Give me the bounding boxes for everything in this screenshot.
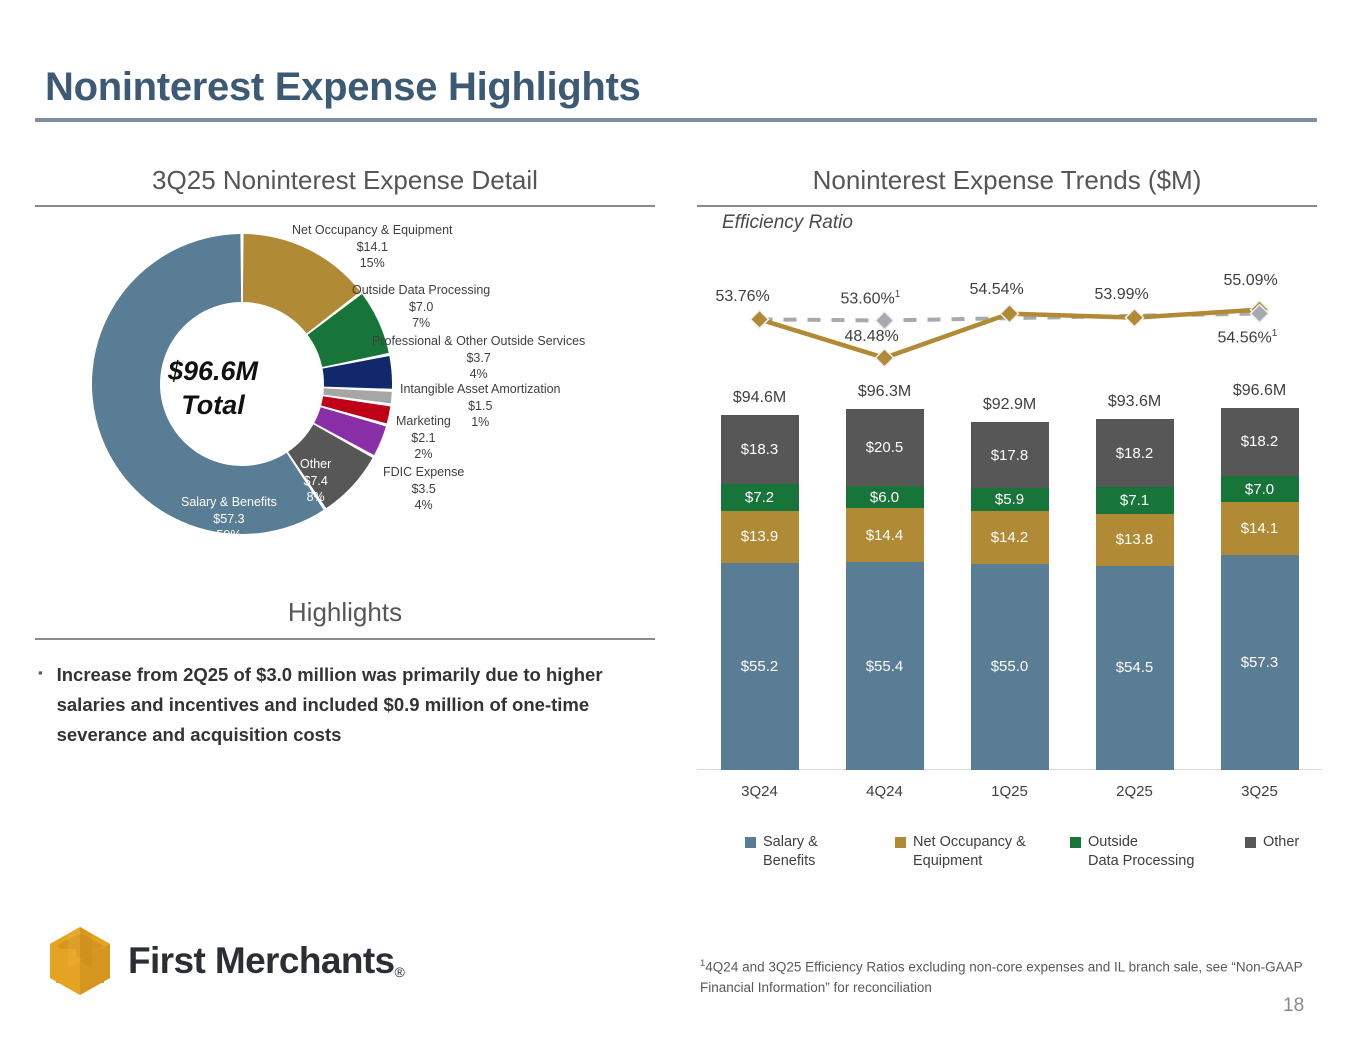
bar-segment-value: $18.2 [1116,445,1154,462]
efficiency-value-2q25: 53.99% [1095,286,1149,304]
legend-swatch-icon [895,837,906,848]
bar-segment-value: $6.0 [870,489,899,506]
highlights-list: ▪ Increase from 2Q25 of $3.0 million was… [38,660,648,750]
legend-swatch-icon [1070,837,1081,848]
bar-segment-salary-benefits: $55.2 [721,563,799,770]
legend-swatch-icon [745,837,756,848]
bar-segment-salary-benefits: $54.5 [1096,566,1174,770]
bar-segment-outside-data-processing: $7.2 [721,484,799,511]
efficiency-marker-3q24 [751,310,769,328]
bar-segment-value: $5.9 [995,491,1024,508]
bar-segment-other: $18.2 [1096,419,1174,487]
bar-segment-other: $18.3 [721,415,799,484]
efficiency-value-4q24: 48.48% [845,328,899,346]
efficiency-adjusted-value-4q24: 53.60%1 [841,289,901,308]
slide-root: Noninterest Expense Highlights 3Q25 Noni… [0,0,1365,1055]
bar-segment-outside-data-processing: $5.9 [971,488,1049,510]
bar-segment-net-occupancy: $14.1 [1221,502,1299,555]
bar-segment-value: $57.3 [1241,654,1279,671]
efficiency-adjusted-value-3q24: 53.76% [716,288,770,306]
bar-segment-value: $54.5 [1116,659,1154,676]
bar-segment-value: $55.4 [866,658,904,675]
stacked-bar-2q25: $18.2$7.1$13.8$54.5 [1096,419,1174,770]
highlights-divider [35,638,655,640]
donut-label-net-occupancy: Net Occupancy & Equipment $14.1 15% [292,222,453,272]
bar-segment-value: $18.3 [741,441,779,458]
donut-label-professional-services: Professional & Other Outside Services $3… [372,333,585,383]
stacked-bar-4q24: $20.5$6.0$14.4$55.4 [846,409,924,770]
x-axis-tick-4q24: 4Q24 [820,783,950,800]
logo-wordmark: First Merchants® [128,940,405,982]
bar-segment-value: $13.8 [1116,531,1154,548]
donut-center-amount: $96.6M [118,355,308,389]
noninterest-expense-trend-chart: 53.76%48.48%54.54%53.99%55.09%53.76%53.6… [697,250,1322,830]
efficiency-adjusted-value-3q25: 54.56%1 [1218,328,1278,347]
legend-label: Other [1263,833,1299,852]
legend-item-net-occupancy-equipment[interactable]: Net Occupancy &Equipment [895,833,1070,871]
bar-segment-value: $7.1 [1120,492,1149,509]
bar-segment-outside-data-processing: $7.1 [1096,487,1174,514]
page-number: 18 [1283,995,1304,1017]
bar-segment-other: $20.5 [846,409,924,486]
donut-label-other: Other $7.4 8% [300,456,331,506]
bar-segment-other: $17.8 [971,422,1049,489]
bar-segment-outside-data-processing: $6.0 [846,486,924,509]
highlights-heading: Highlights [35,597,655,628]
logo-name: First Merchants [128,940,395,981]
registered-mark: ® [395,964,405,980]
donut-label-marketing: Marketing $2.1 2% [396,413,451,463]
bar-total-label-3q25: $96.6M [1195,382,1325,400]
list-item: ▪ Increase from 2Q25 of $3.0 million was… [38,660,648,750]
bar-segment-salary-benefits: $55.4 [846,562,924,770]
efficiency-value-1q25: 54.54% [970,281,1024,299]
bar-segment-value: $14.2 [991,529,1029,546]
bar-total-label-2q25: $93.6M [1070,393,1200,411]
stacked-bar-3q24: $18.3$7.2$13.9$55.2 [721,415,799,770]
legend-item-other[interactable]: Other [1245,833,1325,871]
legend-label: Net Occupancy &Equipment [913,833,1026,871]
bar-segment-value: $20.5 [866,439,904,456]
legend-item-salary-benefits[interactable]: Salary &Benefits [745,833,895,871]
bar-segment-value: $13.9 [741,528,779,545]
donut-center-word: Total [118,389,308,423]
title-divider [35,118,1317,122]
chart-legend: Salary &BenefitsNet Occupancy &Equipment… [745,833,1325,871]
page-title: Noninterest Expense Highlights [45,65,641,110]
efficiency-ratio-label: Efficiency Ratio [722,212,853,234]
bar-segment-value: $18.2 [1241,433,1279,450]
bar-total-label-1q25: $92.9M [945,396,1075,414]
first-merchants-logo: First Merchants® [48,925,405,997]
donut-center-total: $96.6M Total [118,355,308,423]
left-panel-divider [35,205,655,207]
bar-segment-net-occupancy: $14.4 [846,508,924,562]
bar-segment-value: $7.2 [745,489,774,506]
x-axis-tick-1q25: 1Q25 [945,783,1075,800]
bar-segment-value: $7.0 [1245,481,1274,498]
bar-total-label-3q24: $94.6M [695,389,825,407]
legend-label: OutsideData Processing [1088,833,1194,871]
bar-segment-net-occupancy: $14.2 [971,511,1049,564]
bullet-icon: ▪ [38,660,43,685]
efficiency-marker-2q25 [1126,309,1144,327]
stacked-bar-3q25: $18.2$7.0$14.1$57.3 [1221,408,1299,770]
donut-label-salary-benefits: Salary & Benefits $57.3 59% [181,494,277,544]
left-panel-heading: 3Q25 Noninterest Expense Detail [35,165,655,196]
stacked-bar-1q25: $17.8$5.9$14.2$55.0 [971,422,1049,770]
right-panel-heading: Noninterest Expense Trends ($M) [697,165,1317,196]
legend-swatch-icon [1245,837,1256,848]
bar-segment-value: $55.0 [991,658,1029,675]
efficiency-adjusted-marker-4q24 [876,312,894,330]
footnote-text: 4Q24 and 3Q25 Efficiency Ratios excludin… [700,960,1302,996]
bar-segment-value: $14.4 [866,527,904,544]
highlight-text: Increase from 2Q25 of $3.0 million was p… [57,660,617,750]
bar-segment-other: $18.2 [1221,408,1299,476]
bar-segment-salary-benefits: $57.3 [1221,555,1299,770]
cube-logo-icon [48,925,112,997]
x-axis-tick-2q25: 2Q25 [1070,783,1200,800]
bar-segment-net-occupancy: $13.8 [1096,514,1174,566]
bar-segment-net-occupancy: $13.9 [721,511,799,563]
footnote: 14Q24 and 3Q25 Efficiency Ratios excludi… [700,957,1310,999]
right-panel-divider [697,205,1317,207]
bar-segment-value: $14.1 [1241,520,1279,537]
legend-item-outside-data-processing[interactable]: OutsideData Processing [1070,833,1245,871]
bar-segment-value: $17.8 [991,447,1029,464]
bar-segment-value: $55.2 [741,658,779,675]
efficiency-value-3q25: 55.09% [1224,272,1278,290]
legend-label: Salary &Benefits [763,833,818,871]
x-axis-tick-3q25: 3Q25 [1195,783,1325,800]
x-axis-tick-3q24: 3Q24 [695,783,825,800]
efficiency-marker-4q24 [876,349,894,367]
bar-total-label-4q24: $96.3M [820,383,950,401]
bar-segment-outside-data-processing: $7.0 [1221,476,1299,502]
donut-label-fdic-expense: FDIC Expense $3.5 4% [383,464,464,514]
donut-label-outside-data-processing: Outside Data Processing $7.0 7% [352,282,490,332]
bar-segment-salary-benefits: $55.0 [971,564,1049,770]
